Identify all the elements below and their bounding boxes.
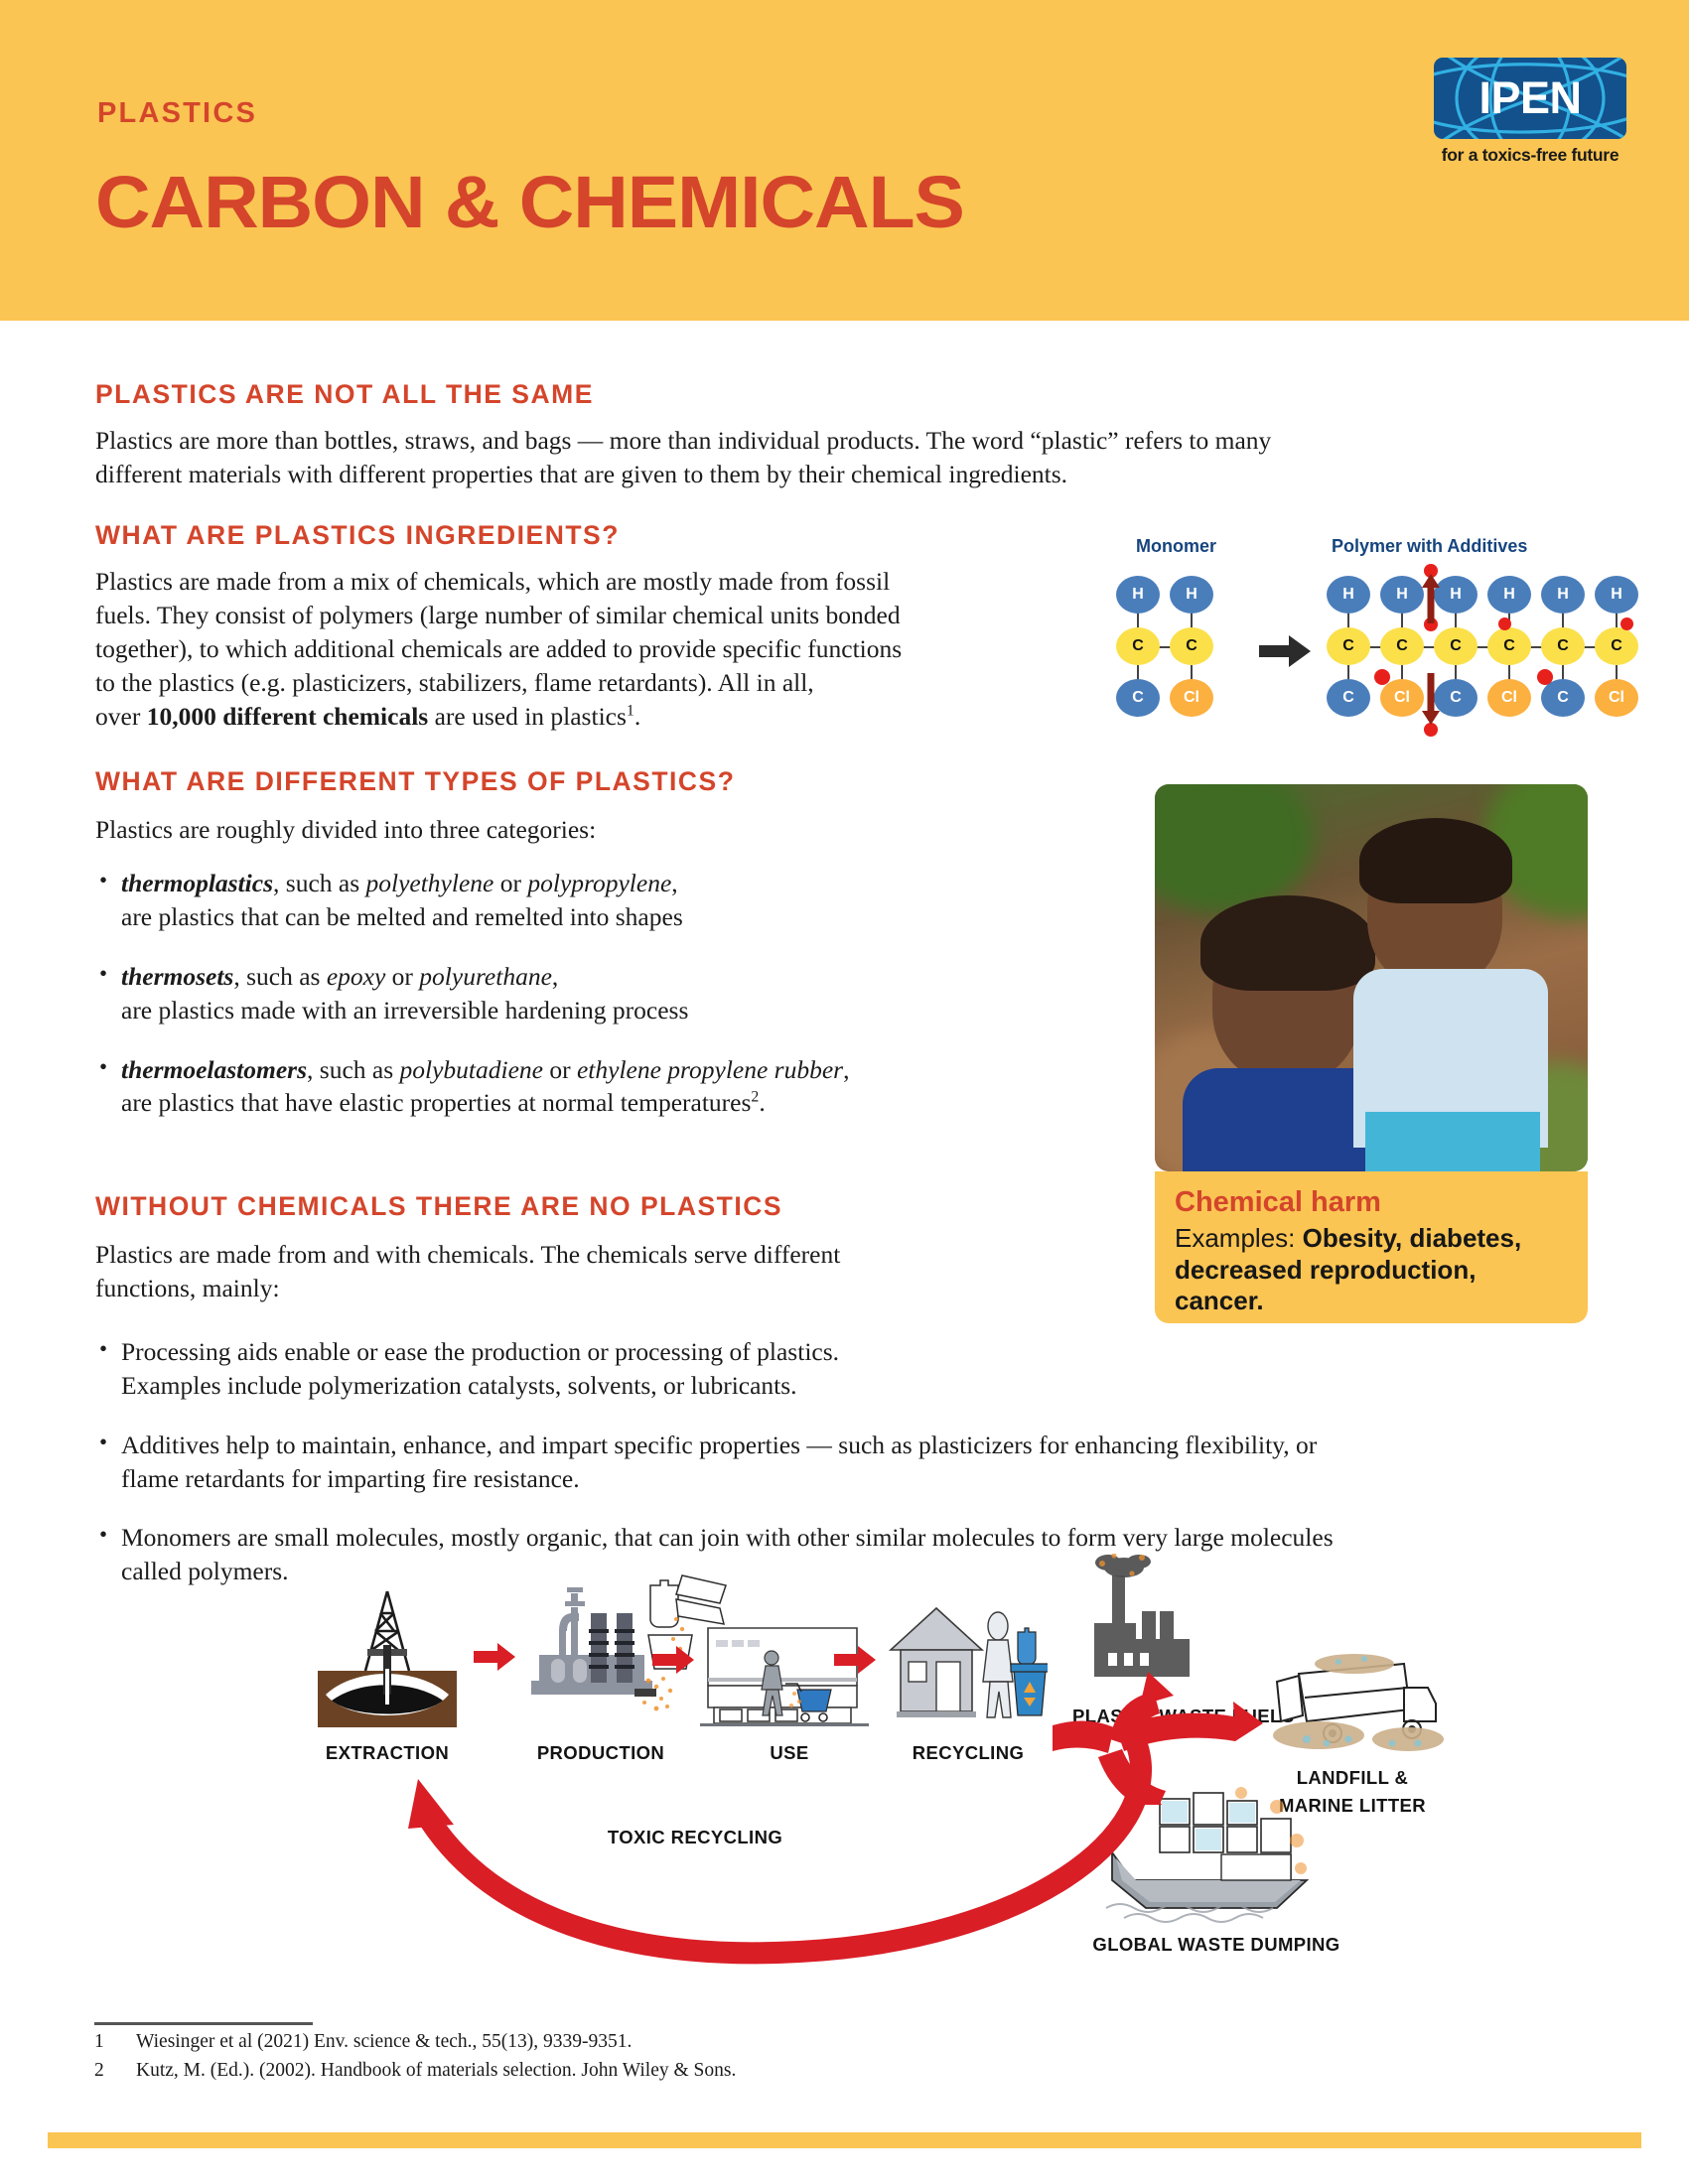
- list-text: or: [543, 1055, 577, 1084]
- type-example: polyethylene: [366, 869, 494, 897]
- list-text: , such as: [233, 962, 326, 991]
- list-text: Monomers are small molecules, mostly org…: [121, 1523, 1334, 1552]
- atom-h: H: [1487, 576, 1531, 614]
- plastic-types-list: thermoplastics, such as polyethylene or …: [95, 867, 1088, 1120]
- monomer-label: Monomer: [1136, 536, 1216, 557]
- atom-c: C: [1487, 627, 1531, 665]
- molecule-diagram: Monomer Polymer with Additives H H C C C…: [1088, 536, 1664, 754]
- page-header: PLASTICS CARBON & CHEMICALS IPEN for a t…: [0, 0, 1689, 321]
- type-term: thermoplastics: [121, 869, 273, 897]
- footnote-number: 2: [94, 2060, 104, 2082]
- section-intro: Plastics are roughly divided into three …: [95, 813, 1088, 847]
- atom-cl: Cl: [1170, 679, 1213, 717]
- footnote-divider: [94, 2022, 313, 2025]
- plastics-lifecycle-diagram: EXTRACTION: [0, 1559, 1689, 1995]
- list-text: are plastics that have elastic propertie…: [121, 1088, 751, 1117]
- header-kicker: PLASTICS: [97, 97, 257, 130]
- photo-baby-pants: [1365, 1112, 1540, 1171]
- list-text: , such as: [307, 1055, 399, 1084]
- paragraph-line: to the plastics (e.g. plasticizers, stab…: [95, 668, 814, 697]
- atom-c: C: [1116, 679, 1160, 717]
- atom-c: C: [1327, 679, 1370, 717]
- type-example: polypropylene: [527, 869, 671, 897]
- list-text: ,: [552, 962, 558, 991]
- list-text: , such as: [273, 869, 365, 897]
- atom-c: C: [1327, 627, 1370, 665]
- section-heading: WITHOUT CHEMICALS THERE ARE NO PLASTICS: [95, 1191, 1545, 1222]
- polymer-label: Polymer with Additives: [1332, 536, 1527, 557]
- footnote-ref[interactable]: 1: [627, 702, 634, 719]
- type-term: thermosets: [121, 962, 233, 991]
- arrow-right-icon: [652, 1646, 694, 1674]
- paragraph-text: are used in plastics: [428, 702, 627, 731]
- arrow-right-icon: [834, 1646, 876, 1674]
- additive-dot: [1537, 669, 1553, 685]
- photo-baby-hair: [1359, 818, 1512, 903]
- atom-h: H: [1541, 576, 1585, 614]
- page-title: CARBON & CHEMICALS: [95, 166, 964, 239]
- section-types-of-plastics: WHAT ARE DIFFERENT TYPES OF PLASTICS? Pl…: [95, 766, 1088, 1120]
- atom-cl: Cl: [1487, 679, 1531, 717]
- photo-figure-hair: [1200, 895, 1375, 991]
- atom-h: H: [1380, 576, 1424, 614]
- section-without-chemicals: WITHOUT CHEMICALS THERE ARE NO PLASTICS …: [95, 1191, 1545, 1588]
- oil-extraction-icon: [318, 1583, 457, 1727]
- paragraph-line: Plastics are made from a mix of chemical…: [95, 567, 890, 596]
- atom-c: C: [1380, 627, 1424, 665]
- additive-dot: [1620, 617, 1633, 630]
- list-text: or: [493, 869, 527, 897]
- recycling-home-icon: [879, 1588, 1048, 1737]
- list-text: ,: [671, 869, 677, 897]
- atom-c: C: [1116, 627, 1160, 665]
- list-item: thermosets, such as epoxy or polyurethan…: [95, 960, 1088, 1027]
- photo-bokeh: [1155, 784, 1314, 913]
- list-item: thermoplastics, such as polyethylene or …: [95, 867, 1088, 934]
- atom-h: H: [1434, 576, 1478, 614]
- type-example: ethylene propylene rubber: [577, 1055, 843, 1084]
- section-heading: WHAT ARE DIFFERENT TYPES OF PLASTICS?: [95, 766, 1088, 797]
- toxic-recycling-loop-arrow: [382, 1725, 1177, 1983]
- arrow-right-icon: [1259, 635, 1311, 667]
- footnote-number: 1: [94, 2031, 104, 2053]
- list-text: ,: [843, 1055, 849, 1084]
- footnote-text: Kutz, M. (Ed.). (2002). Handbook of mate…: [136, 2060, 736, 2082]
- bottom-accent-bar: [48, 2132, 1641, 2148]
- list-text: Processing aids enable or ease the produ…: [121, 1337, 839, 1366]
- atom-c: C: [1434, 679, 1478, 717]
- additive-dot: [1374, 669, 1390, 685]
- section-plastics-ingredients: WHAT ARE PLASTICS INGREDIENTS? Plastics …: [95, 520, 1049, 734]
- atom-c: C: [1434, 627, 1478, 665]
- paragraph-line: fuels. They consist of polymers (large n…: [95, 601, 901, 629]
- paragraph-text: .: [634, 702, 640, 731]
- list-text: are plastics that can be melted and reme…: [121, 902, 683, 931]
- footnote-ref[interactable]: 2: [751, 1089, 759, 1106]
- paragraph-line: Plastics are more than bottles, straws, …: [95, 426, 1271, 455]
- additive-dot: [1498, 617, 1511, 630]
- list-text: are plastics made with an irreversible h…: [121, 996, 688, 1024]
- paragraph-line: functions, mainly:: [95, 1274, 280, 1302]
- section-heading: WHAT ARE PLASTICS INGREDIENTS?: [95, 520, 1049, 551]
- ipen-tagline: for a toxics-free future: [1434, 145, 1626, 166]
- ipen-logo-box: IPEN: [1434, 58, 1626, 139]
- paragraph-line: together), to which additional chemicals…: [95, 634, 902, 663]
- type-example: epoxy: [327, 962, 385, 991]
- type-example: polyurethane: [419, 962, 552, 991]
- atom-c: C: [1170, 627, 1213, 665]
- arrow-up-icon: [1422, 574, 1440, 623]
- list-text: flame retardants for imparting fire resi…: [121, 1464, 580, 1493]
- section-heading: PLASTICS ARE NOT ALL THE SAME: [95, 379, 1505, 410]
- section-plastics-not-all-same: PLASTICS ARE NOT ALL THE SAME Plastics a…: [95, 379, 1505, 491]
- list-text: Additives help to maintain, enhance, and…: [121, 1431, 1317, 1459]
- paragraph-text: over: [95, 702, 147, 731]
- atom-c: C: [1541, 627, 1585, 665]
- arrow-down-icon: [1422, 673, 1440, 725]
- type-term: thermoelastomers: [121, 1055, 307, 1084]
- list-item: thermoelastomers, such as polybutadiene …: [95, 1053, 1088, 1121]
- atom-h: H: [1595, 576, 1638, 614]
- section-paragraph: Plastics are more than bottles, straws, …: [95, 424, 1505, 491]
- paragraph-line: different materials with different prope…: [95, 460, 1067, 488]
- atom-cl: Cl: [1595, 679, 1638, 717]
- monomer-group: H H C C C Cl: [1112, 568, 1231, 727]
- ipen-logo: IPEN for a toxics-free future: [1434, 58, 1626, 166]
- polymer-group: H H H H H H C C C C C C C Cl C Cl C Cl: [1323, 568, 1650, 739]
- atom-h: H: [1116, 576, 1160, 614]
- section-paragraph: Plastics are made from a mix of chemical…: [95, 565, 1049, 734]
- list-item: Processing aids enable or ease the produ…: [95, 1335, 1545, 1403]
- atom-c: C: [1541, 679, 1585, 717]
- photo-children: [1155, 784, 1588, 1171]
- chemical-functions-list: Processing aids enable or ease the produ…: [95, 1335, 1545, 1588]
- list-text: Examples include polymerization catalyst…: [121, 1371, 797, 1400]
- atom-h: H: [1327, 576, 1370, 614]
- additive-dot: [1424, 723, 1438, 737]
- retail-use-icon: [700, 1618, 884, 1737]
- section-paragraph: Plastics are made from and with chemical…: [95, 1238, 1545, 1305]
- footnote-text: Wiesinger et al (2021) Env. science & te…: [136, 2031, 632, 2053]
- atom-c: C: [1595, 627, 1638, 665]
- list-text: or: [385, 962, 419, 991]
- atom-cl: Cl: [1380, 679, 1424, 717]
- emphasis-chemical-count: 10,000 different chemicals: [147, 702, 429, 731]
- lifecycle-label-toxic-recycling: TOXIC RECYCLING: [571, 1827, 819, 1848]
- ipen-logo-text: IPEN: [1434, 58, 1626, 139]
- paragraph-line: Plastics are made from and with chemical…: [95, 1240, 840, 1269]
- atom-h: H: [1170, 576, 1213, 614]
- list-item: Additives help to maintain, enhance, and…: [95, 1429, 1545, 1496]
- arrow-right-icon: [474, 1643, 515, 1671]
- type-example: polybutadiene: [400, 1055, 543, 1084]
